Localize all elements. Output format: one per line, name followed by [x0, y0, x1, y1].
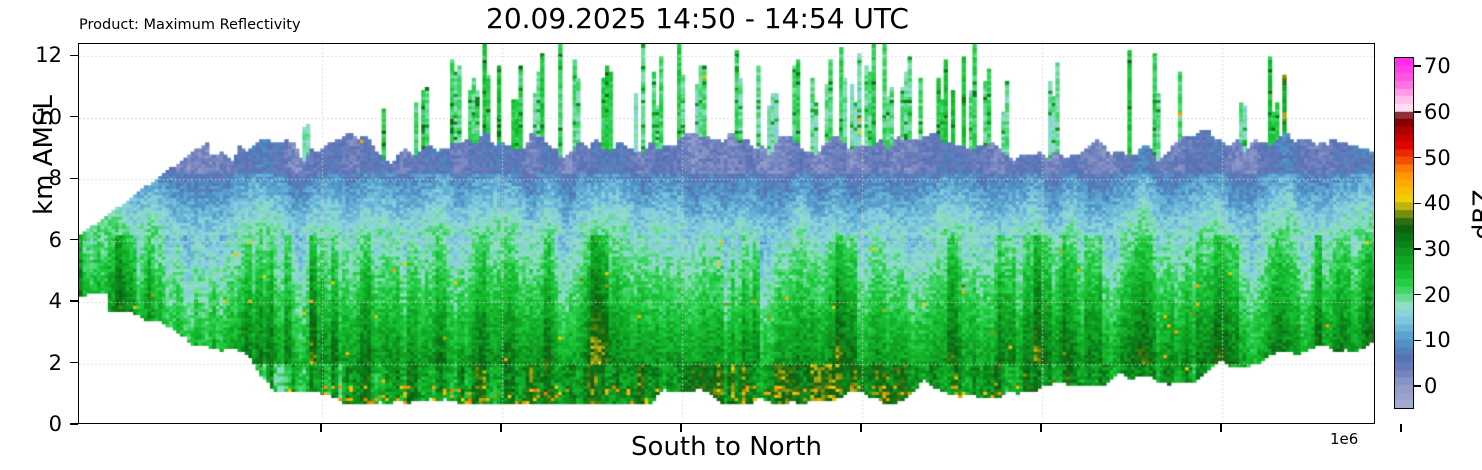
colorbar-tick-label: 20: [1424, 283, 1451, 307]
colorbar-tick-mark: [1414, 203, 1421, 204]
colorbar-tick-label: 40: [1424, 191, 1451, 215]
colorbar-label: dBZ: [1468, 125, 1482, 305]
x-axis-label: South to North: [78, 432, 1375, 462]
x-tick-mark: [320, 424, 321, 432]
product-annotation: Product: Maximum Reflectivity: [79, 17, 301, 33]
colorbar-tick-label: 0: [1424, 374, 1437, 398]
y-tick-mark: [70, 423, 78, 424]
x-tick-mark: [860, 424, 861, 432]
colorbar-tick-mark: [1414, 340, 1421, 341]
colorbar-tick-label: 70: [1424, 54, 1451, 78]
y-tick-label: 4: [18, 289, 62, 313]
reflectivity-heatmap: [79, 44, 1375, 424]
x-axis-offset-text: 1e6: [1330, 430, 1358, 448]
colorbar-tick-label: 10: [1424, 328, 1451, 352]
x-tick-mark: [1040, 424, 1041, 432]
y-tick-mark: [70, 239, 78, 240]
colorbar-tick-mark: [1414, 65, 1421, 66]
radar-cross-section-figure: 20.09.2025 14:50 - 14:54 UTC Product: Ma…: [0, 0, 1482, 470]
colorbar-tick-label: 50: [1424, 146, 1451, 170]
y-tick-mark: [70, 55, 78, 56]
y-tick-mark: [70, 116, 78, 117]
colorbar-tick-label: 60: [1424, 100, 1451, 124]
colorbar-tick-mark: [1414, 294, 1421, 295]
colorbar-tick-label: 30: [1424, 237, 1451, 261]
colorbar-tick-mark: [1414, 157, 1421, 158]
colorbar-tick-mark: [1414, 385, 1421, 386]
colorbar-tick-mark: [1414, 111, 1421, 112]
colorbar-tick-mark: [1414, 248, 1421, 249]
x-tick-mark: [1220, 424, 1221, 432]
colorbar[interactable]: [1394, 57, 1414, 409]
x-tick-mark: [500, 424, 501, 432]
y-tick-label: 10: [18, 105, 62, 129]
heatmap-plot-area[interactable]: [78, 43, 1375, 424]
x-tick-mark: [680, 424, 681, 432]
y-tick-label: 6: [18, 228, 62, 252]
y-tick-mark: [70, 178, 78, 179]
y-tick-mark: [70, 300, 78, 301]
y-tick-mark: [70, 362, 78, 363]
y-tick-label: 0: [18, 412, 62, 436]
x-tick-mark: [1400, 424, 1401, 432]
colorbar-gradient: [1394, 57, 1414, 409]
y-tick-label: 2: [18, 351, 62, 375]
y-tick-label: 8: [18, 166, 62, 190]
y-tick-label: 12: [18, 43, 62, 67]
